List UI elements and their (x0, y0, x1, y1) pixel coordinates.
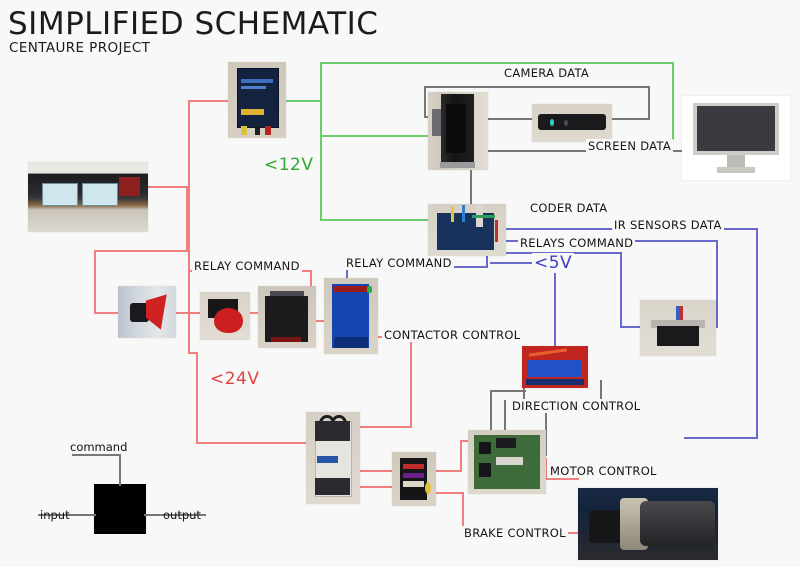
wire-fuse-driver-h (436, 470, 462, 472)
red-relay-module-photo[interactable] (522, 346, 588, 388)
schematic-canvas: SIMPLIFIED SCHEMATIC CENTAURE PROJECT (0, 0, 800, 567)
monitor-photo[interactable] (682, 96, 790, 180)
legend-command-wire (119, 454, 121, 486)
legend-command-lead (72, 454, 120, 456)
dc-converter-photo[interactable] (228, 62, 286, 138)
wire-24v-to-converter (188, 100, 230, 102)
wire-ir-left-v (620, 252, 622, 328)
wire-motor-control-h (545, 478, 579, 480)
arduino-coder-photo[interactable] (428, 204, 506, 256)
wire-pc-to-coder (470, 170, 472, 208)
label-voltage-24v: <24V (208, 369, 262, 389)
wire-brake-h1 (436, 492, 464, 494)
wire-camera-left-v (424, 86, 426, 116)
black-relay-photo[interactable] (258, 286, 316, 348)
motor-driver-photo[interactable] (468, 430, 546, 494)
wire-12v-to-pc (320, 135, 432, 137)
wire-24v-to-switch-row (94, 250, 188, 252)
battery-bank-photo[interactable] (28, 162, 148, 232)
label-relay-command-2: RELAY COMMAND (344, 256, 454, 270)
page-subtitle: CENTAURE PROJECT (9, 40, 150, 56)
wire-12v-to-monitor (672, 62, 674, 140)
label-contactor-control: CONTACTOR CONTROL (382, 328, 523, 342)
label-screen-data: SCREEN DATA (586, 139, 673, 153)
label-motor-control: MOTOR CONTROL (548, 464, 659, 478)
wire-arduino-stub (490, 262, 506, 264)
main-switch-photo[interactable] (118, 286, 176, 338)
label-brake-control: BRAKE CONTROL (462, 526, 568, 540)
blue-relay-module-photo[interactable] (324, 278, 378, 354)
wire-relays-cmd-v (554, 262, 556, 348)
wire-ir-right-v (716, 240, 718, 328)
emergency-stop-photo[interactable] (200, 292, 250, 340)
label-camera-data: CAMERA DATA (502, 66, 591, 80)
wire-coder-data-motor (684, 437, 758, 439)
wire-camera-top-h (424, 86, 650, 88)
wire-fuse-driver-v (460, 440, 462, 472)
ir-sensor-photo[interactable] (640, 300, 716, 356)
wire-contactor-control-v (410, 336, 412, 428)
legend-block (94, 484, 146, 534)
wire-24v-battery-out (148, 186, 188, 188)
pc-tower-photo[interactable] (428, 92, 488, 170)
wire-camera-right-v (648, 86, 650, 120)
wire-24v-contactor-in (196, 442, 310, 444)
depth-camera-photo[interactable] (532, 104, 612, 142)
wire-24v-left-riser (188, 100, 190, 352)
page-title: SIMPLIFIED SCHEMATIC (8, 6, 378, 42)
wire-contactor-fuse-2 (358, 486, 392, 488)
wire-12v-converter-out (286, 100, 322, 102)
wire-pc-to-camera (487, 118, 533, 120)
wire-24v-riser-down (196, 352, 198, 444)
wire-12v-trunk (320, 62, 322, 220)
wire-coder-data-v (756, 228, 758, 439)
label-voltage-12v: <12V (262, 155, 316, 175)
wire-12v-top-branch (320, 62, 674, 64)
wire-contactor-fuse-1 (358, 470, 392, 472)
legend-label-input: input (40, 508, 70, 522)
label-voltage-5v: <5V (532, 253, 574, 273)
label-coder-data: CODER DATA (528, 201, 609, 215)
motor-photo[interactable] (578, 488, 718, 560)
wire-12v-to-arduino (320, 219, 432, 221)
legend-label-output: output (163, 508, 201, 522)
contactor-photo[interactable] (306, 412, 360, 504)
label-relays-command: RELAYS COMMAND (518, 236, 635, 250)
wire-24v-switch-drop (94, 250, 96, 314)
label-direction-control: DIRECTION CONTROL (510, 399, 643, 413)
fuse-holder-photo[interactable] (392, 452, 436, 506)
legend-label-command: command (70, 440, 127, 454)
wire-camera-right-in (612, 118, 650, 120)
wire-direction-left-h (490, 390, 526, 392)
label-relay-command-1: RELAY COMMAND (192, 259, 302, 273)
label-ir-sensors-data: IR SENSORS DATA (612, 218, 724, 232)
